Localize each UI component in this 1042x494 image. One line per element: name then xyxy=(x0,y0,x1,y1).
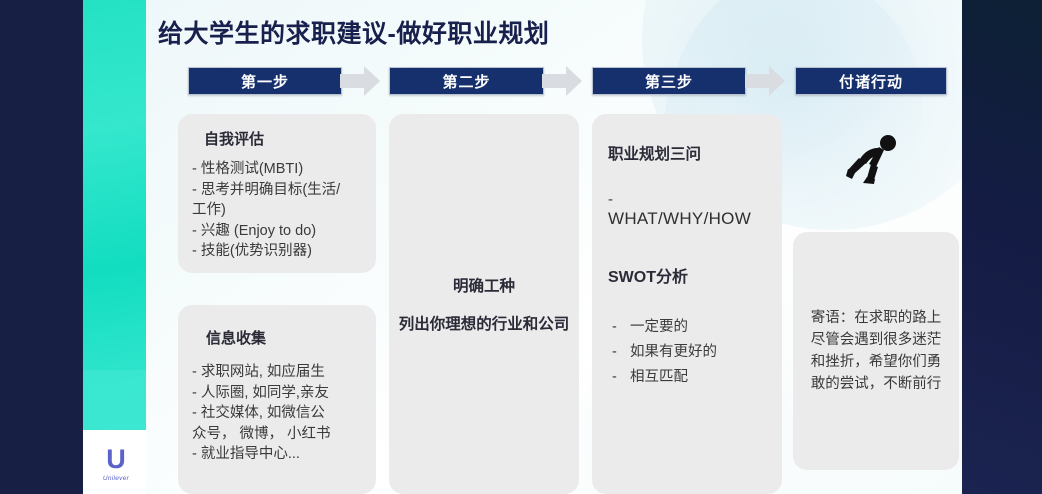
card-career-plan: 职业规划三问 - WHAT/WHY/HOW SWOT分析 -一定要的 -如果有更… xyxy=(592,114,782,494)
card-self-evaluation-line: - 兴趣 (Enjoy to do) xyxy=(192,221,364,242)
card-job-type: 明确工种 列出你理想的行业和公司 xyxy=(389,114,579,494)
left-teal-accent-band xyxy=(83,0,146,430)
card-information-gathering-line: 众号， 微博， 小红书 xyxy=(192,424,364,445)
card-career-plan-swot-title: SWOT分析 xyxy=(608,263,768,287)
card-career-plan-title: 职业规划三问 xyxy=(608,142,768,164)
card-career-plan-bullet-row: -一定要的 xyxy=(608,315,768,340)
card-career-plan-bullet: 一定要的 xyxy=(630,319,688,335)
step-arrow-2-icon xyxy=(540,64,584,98)
bullet-marker: - xyxy=(612,340,630,365)
step-flow: 第一步 第二步 第三步 付诸行动 xyxy=(146,67,962,97)
card-career-plan-bullet-row: -相互匹配 xyxy=(608,365,768,390)
step-bar-3[interactable]: 第三步 xyxy=(592,67,746,95)
unilever-wordmark: Unilever xyxy=(103,475,129,482)
card-information-gathering-title: 信息收集 xyxy=(206,327,364,348)
card-self-evaluation-line: - 性格测试(MBTI) xyxy=(192,159,364,180)
card-career-plan-bullet: 如果有更好的 xyxy=(630,344,717,360)
card-self-evaluation-line: 工作) xyxy=(192,200,364,221)
card-career-plan-bullet-row: -如果有更好的 xyxy=(608,340,768,365)
card-career-plan-bullet: 相互匹配 xyxy=(630,369,688,385)
slide-canvas: 给大学生的求职建议-做好职业规划 第一步 第二步 第三步 付诸行动 xyxy=(146,0,962,494)
card-self-evaluation: 自我评估 - 性格测试(MBTI) - 思考并明确目标(生活/ 工作) - 兴趣… xyxy=(178,114,376,273)
slide-screenshot: U Unilever 给大学生的求职建议-做好职业规划 第一步 第二步 第三步 xyxy=(0,0,1042,494)
card-self-evaluation-title: 自我评估 xyxy=(204,128,364,149)
card-information-gathering: 信息收集 - 求职网站, 如应届生 - 人际圈, 如同学,亲友 - 社交媒体, … xyxy=(178,305,376,494)
card-information-gathering-line: - 就业指导中心... xyxy=(192,444,364,465)
card-closing-message-text: 寄语：在求职的路上尽管会遇到很多迷茫和挫折，希望你们勇敢的尝试，不断前行 xyxy=(807,307,945,395)
card-self-evaluation-line: - 思考并明确目标(生活/ xyxy=(192,180,364,201)
card-job-type-heading: 明确工种 xyxy=(453,274,515,296)
left-navy-frame xyxy=(0,0,83,494)
card-career-plan-dash: - xyxy=(608,192,768,209)
unilever-u-icon: U xyxy=(106,446,126,473)
step-bar-1[interactable]: 第一步 xyxy=(188,67,342,95)
step-arrow-3-icon xyxy=(743,64,787,98)
page-title: 给大学生的求职建议-做好职业规划 xyxy=(158,14,549,50)
bullet-marker: - xyxy=(612,365,630,390)
sprint-start-runner-icon xyxy=(846,134,904,186)
card-information-gathering-line: - 人际圈, 如同学,亲友 xyxy=(192,383,364,404)
card-job-type-subheading: 列出你理想的行业和公司 xyxy=(399,312,570,334)
right-navy-frame xyxy=(962,0,1042,494)
step-bar-2[interactable]: 第二步 xyxy=(389,67,544,95)
card-information-gathering-line: - 社交媒体, 如微信公 xyxy=(192,403,364,424)
card-information-gathering-line: - 求职网站, 如应届生 xyxy=(192,362,364,383)
card-self-evaluation-line: - 技能(优势识别器) xyxy=(192,241,364,262)
card-career-plan-what-why-how: WHAT/WHY/HOW xyxy=(608,209,768,229)
bullet-marker: - xyxy=(612,315,630,340)
step-bar-4[interactable]: 付诸行动 xyxy=(795,67,947,95)
unilever-logo: U Unilever xyxy=(93,440,139,488)
step-arrow-1-icon xyxy=(338,64,382,98)
card-closing-message: 寄语：在求职的路上尽管会遇到很多迷茫和挫折，希望你们勇敢的尝试，不断前行 xyxy=(793,232,959,470)
